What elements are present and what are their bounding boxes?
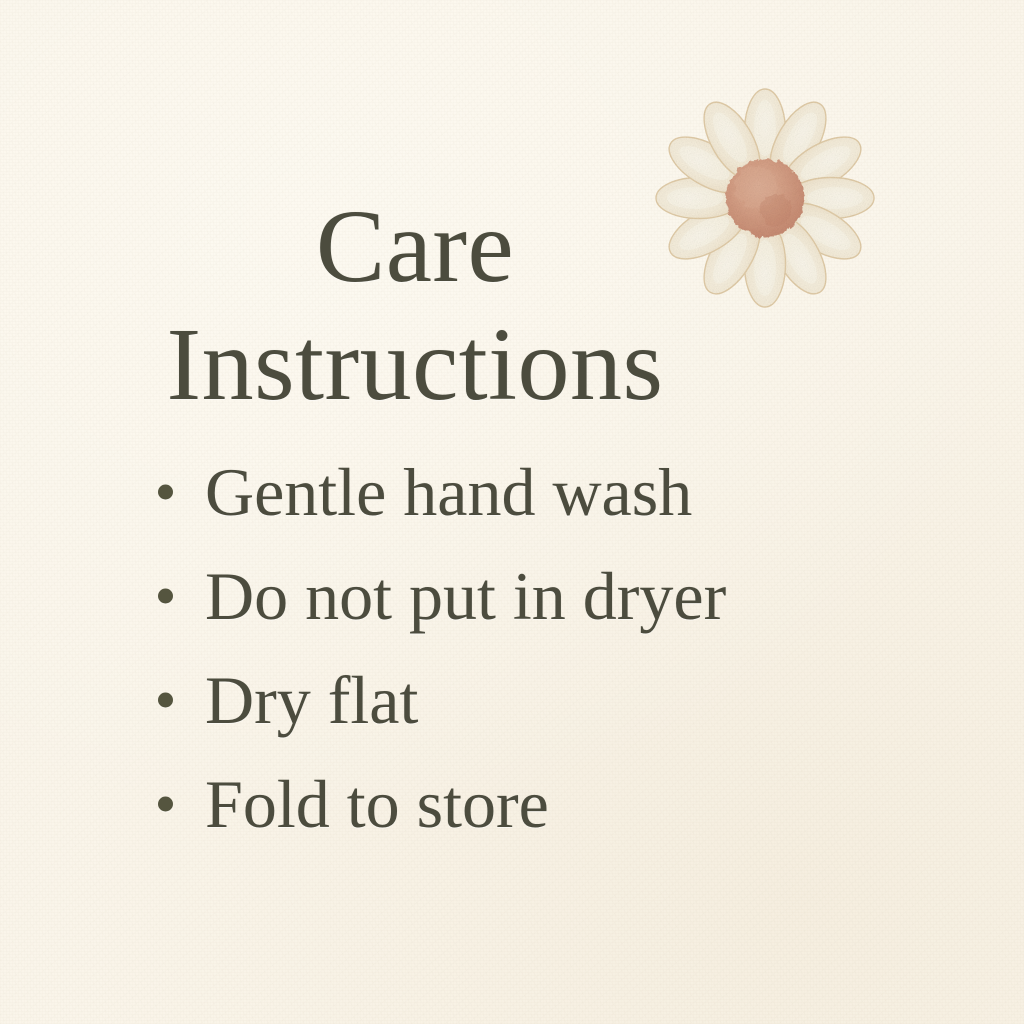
list-item: Fold to store [152, 752, 726, 856]
bullet-dot-icon [158, 693, 173, 708]
care-instructions-list: Gentle hand wash Do not put in dryer Dry… [152, 440, 726, 856]
bullet-dot-icon [158, 485, 173, 500]
list-item: Dry flat [152, 648, 726, 752]
list-item-label: Dry flat [205, 648, 418, 752]
list-item-label: Do not put in dryer [205, 544, 726, 648]
page-title: Care Instructions [0, 188, 830, 424]
list-item: Gentle hand wash [152, 440, 726, 544]
page-title-line-2: Instructions [0, 306, 830, 424]
page-title-line-1: Care [0, 188, 830, 306]
care-instructions-card: Care Instructions Gentle hand wash Do no… [0, 0, 1024, 1024]
list-item-label: Gentle hand wash [205, 440, 692, 544]
list-item: Do not put in dryer [152, 544, 726, 648]
bullet-dot-icon [158, 797, 173, 812]
list-item-label: Fold to store [205, 752, 549, 856]
bullet-dot-icon [158, 589, 173, 604]
